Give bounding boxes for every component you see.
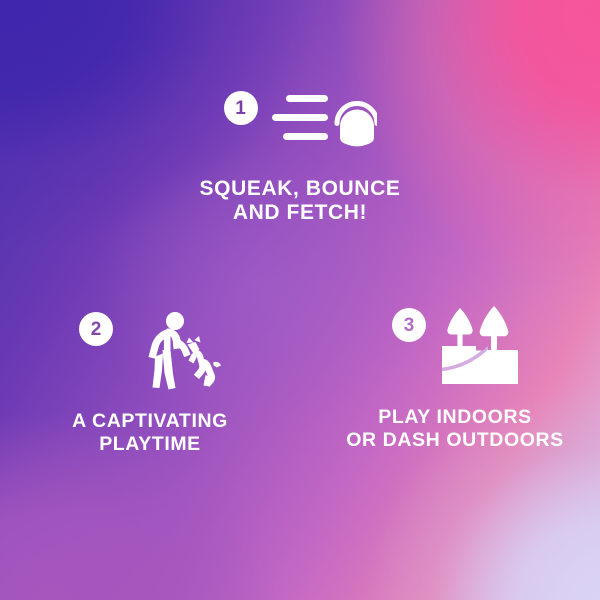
feature-1-caption: SQUEAK, BOUNCE AND FETCH! [150,177,450,226]
feature-item-1: 1 SQUEAK, BOUNCE AND FETCH! [150,88,450,226]
feature-3-caption: PLAY INDOORS OR DASH OUTDOORS [330,406,580,451]
infographic-poster: 1 SQUEAK, BOUNCE AND FETCH! 2 [0,0,600,600]
step-number-badge-1: 1 [224,91,258,125]
feature-item-2: 2 [30,312,270,455]
step-number-label-2: 2 [91,320,102,339]
step-number-label-3: 3 [404,316,415,335]
step-number-label-1: 1 [235,99,246,118]
park-with-trees-icon [440,306,518,391]
bouncing-ball-icon [272,88,377,159]
person-playing-with-dog-icon [129,312,221,397]
feature-item-3: 3 [330,306,580,451]
step-number-badge-3: 3 [392,308,426,342]
feature-1-icon-row: 1 [150,88,450,160]
feature-2-caption: A CAPTIVATING PLAYTIME [30,410,270,455]
feature-3-icon-row: 3 [330,306,580,394]
step-number-badge-2: 2 [79,312,113,346]
feature-2-icon-row: 2 [30,312,270,394]
